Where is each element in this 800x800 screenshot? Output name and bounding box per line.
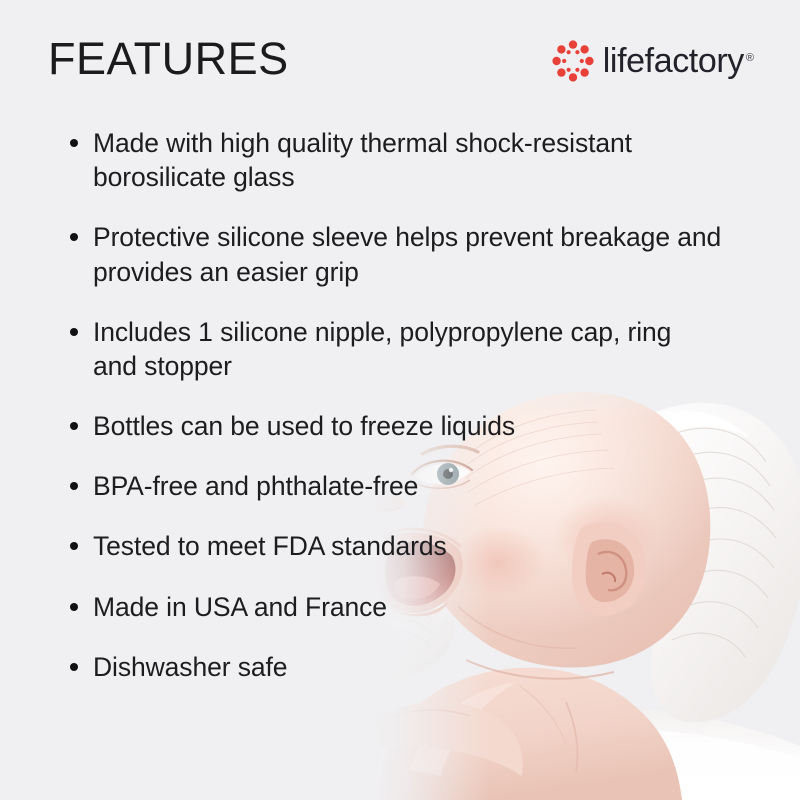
list-item: Dishwasher safe <box>48 650 703 684</box>
lifefactory-dot-flower-logo-icon <box>552 40 594 82</box>
features-slide: FEATURES <box>0 0 800 800</box>
features-list: Made with high quality thermal shock-res… <box>48 126 748 684</box>
list-item-label: Made with high quality thermal shock-res… <box>93 126 696 194</box>
trademark-symbol: ® <box>746 53 754 64</box>
list-item: Made in USA and France <box>48 590 703 624</box>
page-title: FEATURES <box>48 36 289 81</box>
bullet-dot-icon <box>70 422 78 430</box>
list-item-label: Tested to meet FDA standards <box>93 529 703 563</box>
bullet-dot-icon <box>70 663 78 671</box>
list-item-label: Dishwasher safe <box>93 650 703 684</box>
list-item: Tested to meet FDA standards <box>48 529 703 563</box>
list-item: Protective silicone sleeve helps prevent… <box>48 220 738 288</box>
bullet-dot-icon <box>70 542 78 550</box>
list-item: BPA-free and phthalate-free <box>48 469 703 503</box>
list-item: Includes 1 silicone nipple, polypropylen… <box>48 315 678 383</box>
list-item-label: Made in USA and France <box>93 590 703 624</box>
brand-logo: lifefactory ® <box>552 38 754 84</box>
bullet-dot-icon <box>70 328 78 336</box>
list-item-label: Protective silicone sleeve helps prevent… <box>93 220 738 288</box>
header: FEATURES <box>0 0 800 112</box>
list-item-label: Includes 1 silicone nipple, polypropylen… <box>93 315 678 383</box>
bullet-dot-icon <box>70 482 78 490</box>
list-item: Made with high quality thermal shock-res… <box>48 126 696 194</box>
brand-name: lifefactory <box>603 40 744 82</box>
list-item: Bottles can be used to freeze liquids <box>48 409 703 443</box>
brand-wordmark: lifefactory ® <box>603 40 754 82</box>
bullet-dot-icon <box>70 603 78 611</box>
bullet-dot-icon <box>70 139 78 147</box>
list-item-label: Bottles can be used to freeze liquids <box>93 409 703 443</box>
bullet-dot-icon <box>70 233 78 241</box>
list-item-label: BPA-free and phthalate-free <box>93 469 703 503</box>
